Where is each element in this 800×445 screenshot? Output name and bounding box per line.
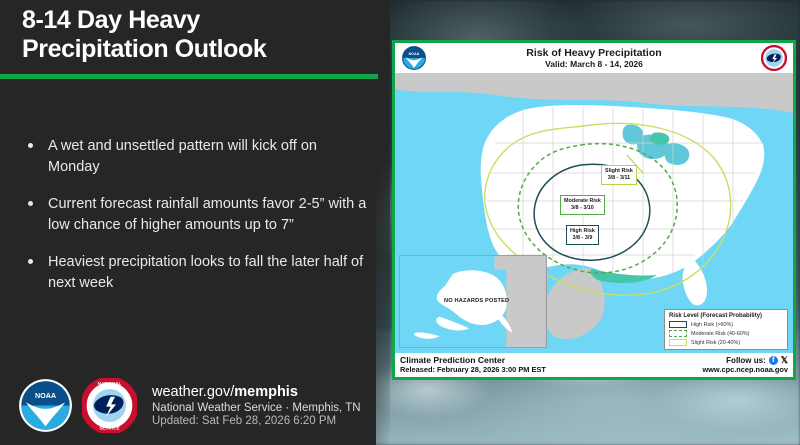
svg-text:NOAA: NOAA <box>35 392 56 400</box>
legend-row-moderate: Moderate Risk (40-60%) <box>669 330 783 337</box>
noaa-emblem-icon: NOAA <box>401 45 427 71</box>
callout-high-risk: High Risk 3/8 - 3/9 <box>566 225 599 245</box>
bullet-list: A wet and unsettled pattern will kick of… <box>20 136 372 310</box>
map-title: Risk of Heavy Precipitation <box>526 47 661 59</box>
list-item: Current forecast rainfall amounts favor … <box>20 194 372 235</box>
follow-us-label: Follow us: <box>726 356 766 366</box>
legend-row-high: High Risk (>60%) <box>669 321 783 328</box>
callout-slight-dates: 3/8 - 3/11 <box>605 175 633 182</box>
callout-moderate-risk: Moderate Risk 3/8 - 3/10 <box>560 195 605 215</box>
svg-text:SERVICE: SERVICE <box>99 426 119 431</box>
callout-slight-label: Slight Risk <box>605 168 633 175</box>
legend-row-slight: Slight Risk (20-40%) <box>669 339 783 346</box>
footer-website: weather.gov/memphis <box>152 384 361 400</box>
map-inner: NO HAZARDS POSTED Slight Risk 3/8 - 3/11… <box>395 43 793 377</box>
alaska-inset: NO HAZARDS POSTED <box>399 255 547 348</box>
map-header: NOAA Risk of Heavy Precipitation Valid: … <box>395 43 793 73</box>
list-item: A wet and unsettled pattern will kick of… <box>20 136 372 177</box>
legend: Risk Level (Forecast Probability) High R… <box>664 309 788 350</box>
footer-text: weather.gov/memphis National Weather Ser… <box>152 384 361 427</box>
bullet-dot-icon <box>28 143 33 148</box>
bullet-dot-icon <box>28 201 33 206</box>
list-item-text: Current forecast rainfall amounts favor … <box>48 196 366 233</box>
page-title-line2: Precipitation Outlook <box>22 35 362 64</box>
legend-label-slight: Slight Risk (20-40%) <box>691 340 740 346</box>
map-panel: NO HAZARDS POSTED Slight Risk 3/8 - 3/11… <box>392 40 796 380</box>
footer-website-office: memphis <box>234 384 298 400</box>
legend-swatch-slight <box>669 339 687 346</box>
legend-label-moderate: Moderate Risk (40-60%) <box>691 331 749 337</box>
svg-text:NATIONAL: NATIONAL <box>98 381 122 386</box>
list-item-text: A wet and unsettled pattern will kick of… <box>48 138 317 175</box>
list-item: Heaviest precipitation looks to fall the… <box>20 252 372 293</box>
credits-website[interactable]: www.cpc.ncep.noaa.gov <box>702 366 788 375</box>
map-valid-period: Valid: March 8 - 14, 2026 <box>526 59 661 69</box>
footer: NOAA NATIONAL SERVICE weather.gov/memphi… <box>18 378 361 433</box>
legend-swatch-moderate <box>669 330 687 337</box>
page-title: 8-14 Day Heavy Precipitation Outlook <box>22 6 362 64</box>
nws-logo: NATIONAL SERVICE <box>82 378 137 433</box>
legend-swatch-high <box>669 321 687 328</box>
bullet-dot-icon <box>28 259 33 264</box>
title-divider <box>0 74 378 79</box>
svg-text:NOAA: NOAA <box>409 52 420 56</box>
callout-moderate-label: Moderate Risk <box>564 198 601 205</box>
footer-updated: Updated: Sat Feb 28, 2026 6:20 PM <box>152 415 361 427</box>
callout-high-dates: 3/8 - 3/9 <box>570 235 595 242</box>
list-item-text: Heaviest precipitation looks to fall the… <box>48 254 363 291</box>
facebook-icon[interactable]: f <box>769 356 778 365</box>
map-header-text: Risk of Heavy Precipitation Valid: March… <box>526 47 661 69</box>
page-title-line1: 8-14 Day Heavy <box>22 6 362 35</box>
callout-slight-risk: Slight Risk 3/8 - 3/11 <box>601 165 637 185</box>
credits-right: Follow us: f 𝕏 www.cpc.ncep.noaa.gov <box>702 355 788 375</box>
map-credits-bar: Climate Prediction Center Released: Febr… <box>395 353 793 377</box>
footer-office: National Weather Service · Memphis, TN <box>152 402 361 414</box>
credits-released: Released: February 28, 2026 3:00 PM EST <box>400 366 546 375</box>
nws-emblem-icon <box>761 45 787 71</box>
noaa-logo: NOAA <box>18 378 73 433</box>
footer-website-base: weather.gov/ <box>152 384 234 400</box>
inset-status-label: NO HAZARDS POSTED <box>444 298 509 304</box>
graphic-root: 8-14 Day Heavy Precipitation Outlook A w… <box>0 0 800 445</box>
legend-title: Risk Level (Forecast Probability) <box>669 313 783 319</box>
legend-label-high: High Risk (>60%) <box>691 322 733 328</box>
callout-high-label: High Risk <box>570 228 595 235</box>
callout-moderate-dates: 3/8 - 3/10 <box>564 205 601 212</box>
credits-left: Climate Prediction Center Released: Febr… <box>400 355 546 374</box>
